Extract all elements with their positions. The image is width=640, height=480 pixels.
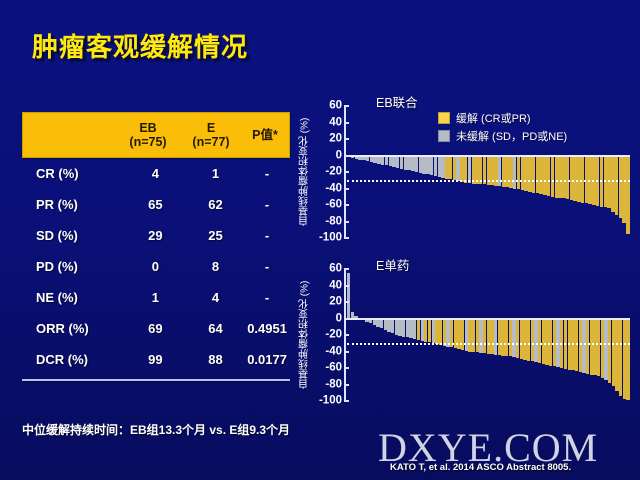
y-tick-label: -40	[325, 183, 342, 195]
cell-e: 8	[187, 259, 244, 274]
cell-e: 62	[187, 197, 244, 212]
table-row: SD (%)2925-	[22, 220, 290, 251]
table-row: NE (%)14-	[22, 282, 290, 313]
table-row: DCR (%)99880.0177	[22, 344, 290, 375]
y-tick-mark	[344, 188, 349, 190]
y-tick-label: -20	[325, 166, 342, 178]
cell-e: 1	[187, 166, 244, 181]
cell-eb: 0	[124, 259, 187, 274]
cell-pvalue: 0.4951	[244, 321, 290, 336]
y-tick-label: 40	[329, 280, 342, 292]
table-header-row: EB (n=75) E (n=77) P值*	[22, 112, 290, 158]
chart-zeroline-eb	[347, 155, 630, 157]
chart-reference-line-eb	[347, 180, 630, 182]
table-body: CR (%)41-PR (%)6562-SD (%)2925-PD (%)08-…	[22, 158, 290, 375]
waterfall-bar	[626, 319, 629, 401]
chart-reference-line-e	[347, 343, 630, 345]
median-duration-note: 中位缓解持续时间：EB组13.3个月 vs. E组9.3个月	[22, 421, 322, 438]
y-tick-label: -100	[319, 395, 342, 407]
chart-zeroline-e	[347, 318, 630, 320]
y-tick-label: -60	[325, 199, 342, 211]
cell-eb: 99	[124, 352, 187, 367]
y-tick-mark	[344, 351, 349, 353]
row-label: DCR (%)	[22, 352, 124, 367]
cell-eb: 29	[124, 228, 187, 243]
cell-pvalue: -	[244, 197, 290, 212]
cell-eb: 69	[124, 321, 187, 336]
results-table: EB (n=75) E (n=77) P值* CR (%)41-PR (%)65…	[22, 112, 290, 381]
legend-swatch-no-response	[438, 130, 450, 142]
waterfall-chart-e-monotherapy: E单药 自基线肿瘤体积变化 (%) 6040200-20-40-60-80-10…	[300, 255, 636, 415]
y-tick-label: 60	[329, 263, 342, 275]
y-tick-label: 0	[336, 313, 342, 325]
waterfall-chart-eb-combination: EB联合 自基线肿瘤体积变化 (%) 6040200-20-40-60-80-1…	[300, 92, 636, 252]
cell-pvalue: -	[244, 259, 290, 274]
cell-e: 4	[187, 290, 244, 305]
legend-swatch-response	[438, 112, 450, 124]
y-tick-mark	[344, 400, 349, 402]
cell-eb: 65	[124, 197, 187, 212]
table-header-pvalue: P值*	[241, 128, 289, 142]
y-tick-mark	[344, 367, 349, 369]
cell-e: 25	[187, 228, 244, 243]
y-tick-mark	[344, 318, 349, 320]
table-bottom-rule	[22, 379, 290, 381]
y-tick-label: 60	[329, 100, 342, 112]
cell-pvalue: -	[244, 166, 290, 181]
table-header-e-name: E	[181, 121, 241, 135]
legend-item-response: 缓解 (CR或PR)	[438, 110, 567, 126]
cell-e: 64	[187, 321, 244, 336]
y-tick-label: -100	[319, 232, 342, 244]
chart-legend: 缓解 (CR或PR) 未缓解 (SD，PD或NE)	[438, 110, 567, 146]
y-tick-label: 0	[336, 150, 342, 162]
table-row: CR (%)41-	[22, 158, 290, 189]
y-tick-mark	[344, 171, 349, 173]
cell-pvalue: -	[244, 228, 290, 243]
table-header-eb-name: EB	[115, 121, 181, 135]
cell-pvalue: 0.0177	[244, 352, 290, 367]
table-row: PR (%)6562-	[22, 189, 290, 220]
chart-yticks-e: 6040200-20-40-60-80-100	[312, 269, 342, 401]
y-tick-mark	[344, 237, 349, 239]
y-tick-mark	[344, 334, 349, 336]
cell-pvalue: -	[244, 290, 290, 305]
cell-eb: 4	[124, 166, 187, 181]
y-tick-mark	[344, 155, 349, 157]
table-row: ORR (%)69640.4951	[22, 313, 290, 344]
chart-bars-e	[347, 269, 630, 401]
legend-item-no-response: 未缓解 (SD，PD或NE)	[438, 128, 567, 144]
y-tick-label: -80	[325, 379, 342, 391]
y-tick-mark	[344, 122, 349, 124]
row-label: PD (%)	[22, 259, 124, 274]
y-tick-mark	[344, 105, 349, 107]
legend-label-response: 缓解 (CR或PR)	[456, 110, 531, 126]
y-tick-mark	[344, 285, 349, 287]
row-label: ORR (%)	[22, 321, 124, 336]
legend-label-no-response: 未缓解 (SD，PD或NE)	[456, 128, 567, 144]
y-tick-label: 40	[329, 117, 342, 129]
table-header-e: E (n=77)	[181, 121, 241, 150]
cell-e: 88	[187, 352, 244, 367]
y-tick-label: -20	[325, 329, 342, 341]
y-tick-mark	[344, 384, 349, 386]
table-header-e-n: (n=77)	[181, 135, 241, 149]
chart-plot-e	[347, 269, 630, 401]
y-tick-label: -40	[325, 346, 342, 358]
y-tick-mark	[344, 204, 349, 206]
y-tick-label: 20	[329, 296, 342, 308]
y-tick-label: 20	[329, 133, 342, 145]
y-tick-label: -80	[325, 216, 342, 228]
waterfall-bar	[626, 156, 629, 234]
source-citation: KATO T, et al. 2014 ASCO Abstract 8005.	[390, 462, 571, 473]
chart-ylabel-e: 自基线肿瘤体积变化 (%)	[298, 271, 312, 399]
chart-yticks-eb: 6040200-20-40-60-80-100	[312, 106, 342, 238]
y-tick-mark	[344, 268, 349, 270]
y-tick-mark	[344, 221, 349, 223]
table-header-eb-n: (n=75)	[115, 135, 181, 149]
row-label: PR (%)	[22, 197, 124, 212]
row-label: NE (%)	[22, 290, 124, 305]
y-tick-label: -60	[325, 362, 342, 374]
row-label: SD (%)	[22, 228, 124, 243]
row-label: CR (%)	[22, 166, 124, 181]
table-row: PD (%)08-	[22, 251, 290, 282]
page-title: 肿瘤客观缓解情况	[32, 27, 248, 64]
table-header-eb: EB (n=75)	[115, 121, 181, 150]
chart-ylabel-eb: 自基线肿瘤体积变化 (%)	[298, 108, 312, 236]
y-tick-mark	[344, 138, 349, 140]
cell-eb: 1	[124, 290, 187, 305]
slide-canvas: 肿瘤客观缓解情况 EB (n=75) E (n=77) P值* CR (%)41…	[0, 0, 640, 480]
y-tick-mark	[344, 301, 349, 303]
